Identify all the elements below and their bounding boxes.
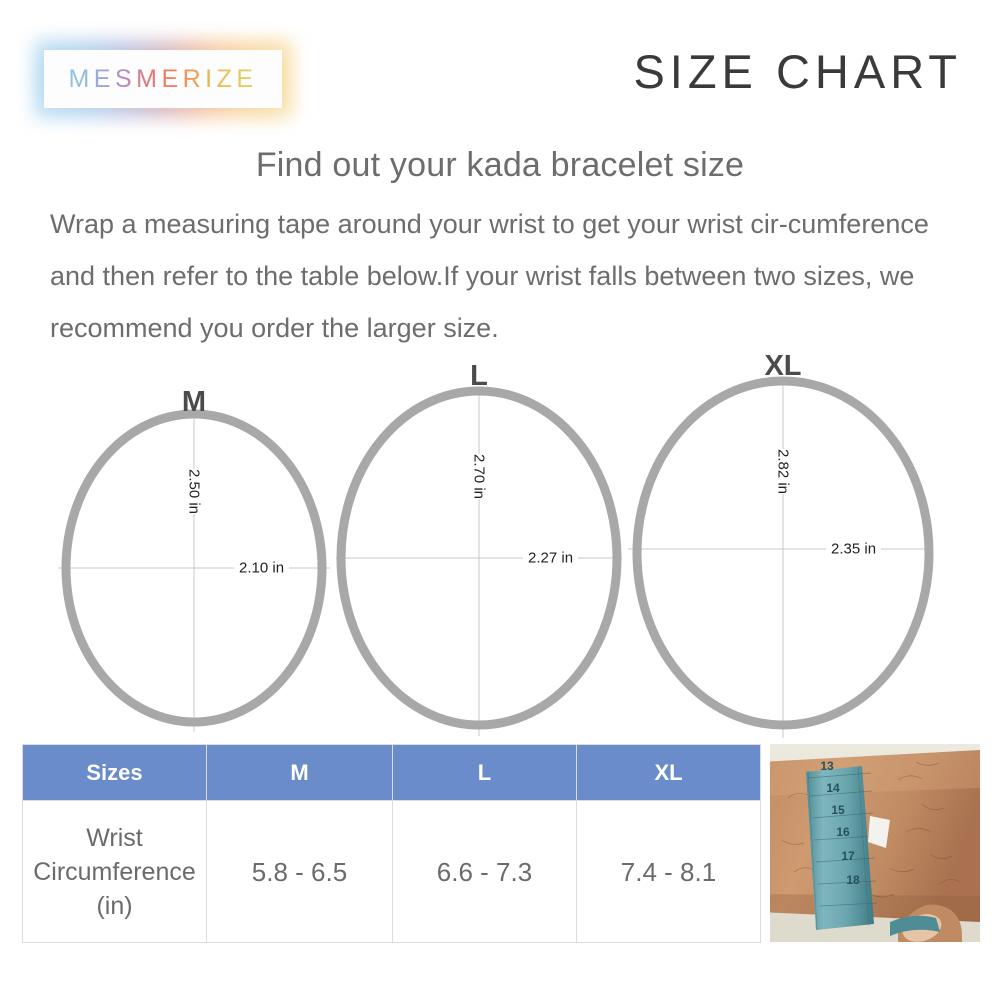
- tape-number-13: 13: [820, 759, 834, 773]
- oval-width-label-xl: 2.35 in: [826, 541, 881, 558]
- table-header-sizes: Sizes: [23, 745, 207, 801]
- tape-number-17: 17: [841, 849, 855, 863]
- tape-number-14: 14: [826, 781, 840, 795]
- oval-label-m: M: [182, 386, 206, 419]
- table-header-xl: XL: [577, 745, 761, 801]
- ovals-svg: [0, 0, 1000, 760]
- oval-label-xl: XL: [764, 350, 801, 383]
- tape-number-16: 16: [836, 825, 850, 839]
- size-table: Sizes M L XL WristCircumference(in) 5.8 …: [22, 744, 761, 943]
- cell-wrist-xl: 7.4 - 8.1: [577, 801, 761, 943]
- tape-number-15: 15: [831, 803, 845, 817]
- row-label-wrist-circumference: WristCircumference(in): [23, 801, 207, 943]
- oval-height-label-xl: 2.82 in: [770, 449, 797, 494]
- table-row: WristCircumference(in) 5.8 - 6.5 6.6 - 7…: [23, 801, 761, 943]
- cell-wrist-l: 6.6 - 7.3: [393, 801, 577, 943]
- table-header-l: L: [393, 745, 577, 801]
- oval-label-l: L: [470, 360, 488, 393]
- cell-wrist-m: 5.8 - 6.5: [207, 801, 393, 943]
- table-header-m: M: [207, 745, 393, 801]
- oval-width-label-l: 2.27 in: [523, 550, 578, 567]
- oval-height-label-m: 2.50 in: [181, 469, 208, 514]
- size-chart-page: MESMERIZE SIZE CHART Find out your kada …: [0, 0, 1000, 1000]
- oval-width-label-m: 2.10 in: [234, 560, 289, 577]
- tape-number-18: 18: [846, 873, 860, 887]
- table-header-row: Sizes M L XL: [23, 745, 761, 801]
- wrist-measurement-photo: 13 14 15 16 17 18: [770, 744, 980, 942]
- crosshair-lines: [58, 378, 930, 738]
- oval-height-label-l: 2.70 in: [466, 454, 493, 499]
- oval-diagrams: M 2.50 in 2.10 in L 2.70 in 2.27 in XL 2…: [0, 0, 1000, 760]
- wrist-photo-illustration: 13 14 15 16 17 18: [770, 744, 980, 942]
